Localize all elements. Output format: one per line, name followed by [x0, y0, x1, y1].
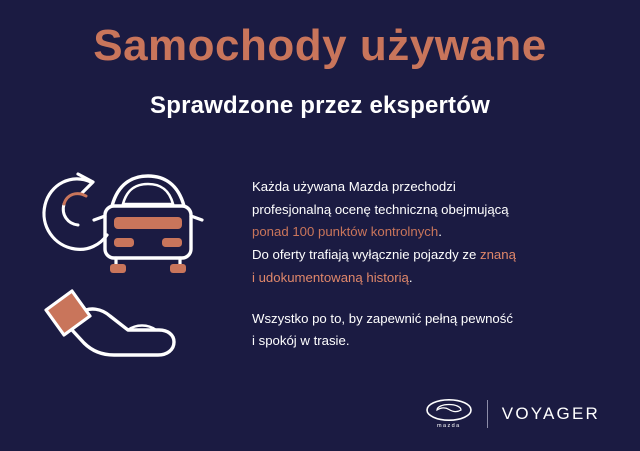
body-copy: Każda używana Mazda przechodzi profesjon… [252, 176, 624, 353]
mazda-emblem-icon [425, 399, 473, 421]
history-highlight-a: znaną [480, 247, 516, 262]
body-line-4: Do oferty trafiają wyłącznie pojazdy ze … [252, 244, 624, 267]
poster-canvas: Samochody używane Sprawdzone przez ekspe… [0, 0, 640, 451]
illustration-group [28, 160, 228, 375]
footer-branding: mazda VOYAGER [425, 399, 600, 429]
open-hand-icon [46, 291, 174, 355]
footer-divider [487, 400, 488, 428]
page-title: Samochody używane [0, 22, 640, 70]
history-highlight-b: i udokumentowaną historią [252, 270, 409, 285]
front-of-car-icon [94, 176, 202, 273]
circular-arrow-icon [44, 174, 107, 249]
body-line-2: profesjonalną ocenę techniczną obejmując… [252, 199, 624, 222]
body-line-3: ponad 100 punktów kontrolnych. [252, 221, 624, 244]
body-line-1: Każda używana Mazda przechodzi [252, 176, 624, 199]
mazda-logo: mazda [425, 399, 473, 429]
dealer-name: VOYAGER [502, 404, 600, 424]
page-subtitle: Sprawdzone przez ekspertów [0, 92, 640, 120]
body-line-7: i spokój w trasie. [252, 330, 624, 353]
body-line-6: Wszystko po to, by zapewnić pełną pewnoś… [252, 308, 624, 331]
body-line-5: i udokumentowaną historią. [252, 267, 624, 290]
checkpoints-highlight: ponad 100 punktów kontrolnych [252, 224, 438, 239]
mazda-wordmark: mazda [437, 423, 461, 429]
paragraph-spacer [252, 290, 624, 308]
